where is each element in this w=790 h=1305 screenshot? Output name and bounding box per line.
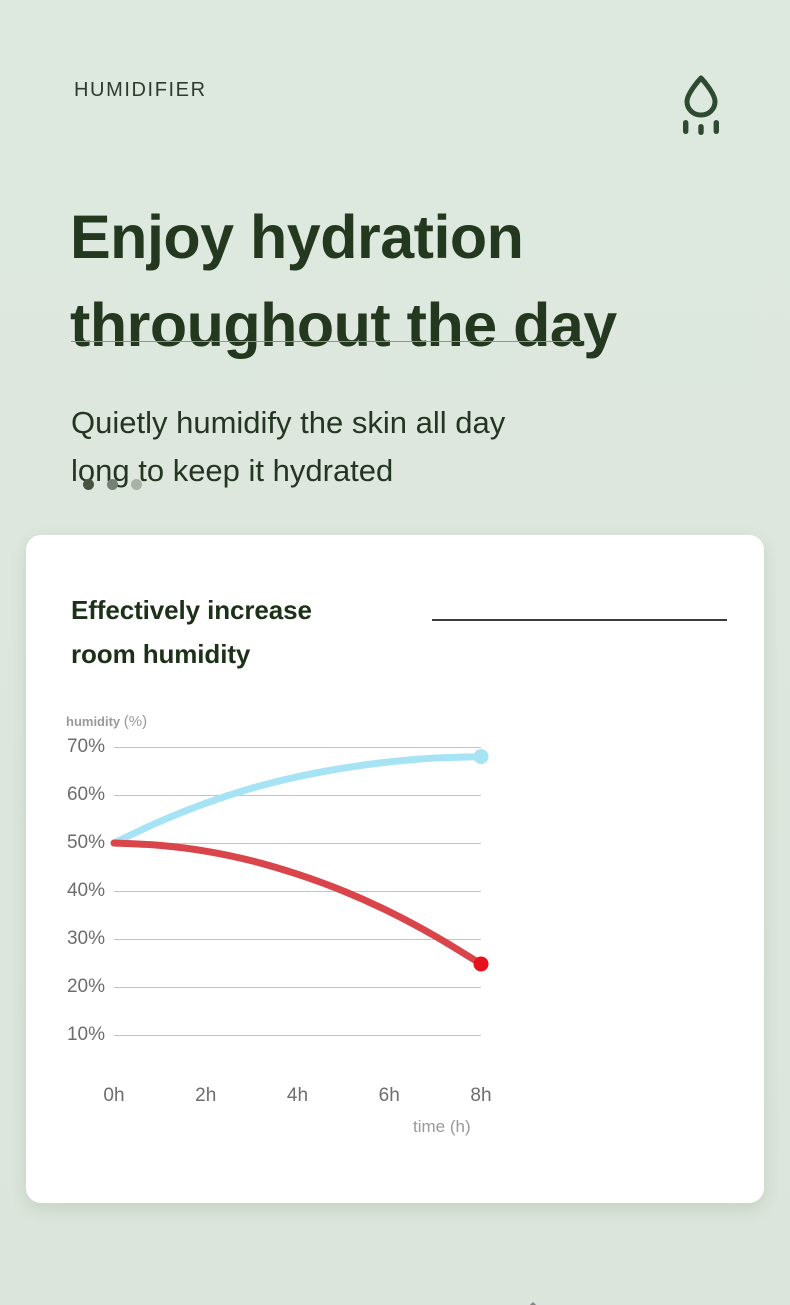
humidity-line-chart: humidity (%) 70%60%50%40%30%20%10% 0h2h4…: [38, 713, 488, 1153]
x-tick-label: 6h: [379, 1085, 400, 1107]
subtitle-line-1: Quietly humidify the skin all day: [71, 405, 505, 440]
card-divider: [432, 619, 727, 621]
humidity-chart-card: Effectively increase room humidity humid…: [26, 535, 764, 1203]
mist-droplet-icon: [672, 73, 730, 135]
hero-section: HUMIDIFIER Enjoy hydration throughout th…: [0, 0, 790, 535]
x-tick-label: 2h: [195, 1085, 216, 1107]
headline-line-2: throughout the day: [70, 281, 750, 369]
series-line-dry: [114, 843, 481, 964]
card-title: Effectively increase room humidity: [71, 588, 312, 676]
legend-text-moist: Moist space humidifier 8 hours of room h…: [584, 1293, 753, 1305]
x-tick-label: 8h: [470, 1085, 491, 1107]
x-axis-ticks: 0h2h4h6h8h: [38, 1085, 488, 1111]
series-line-moist: [114, 757, 481, 843]
promo-page: HUMIDIFIER Enjoy hydration throughout th…: [0, 0, 790, 1305]
house-moist-icon: [492, 1293, 574, 1305]
legend-title-moist: Moist space: [584, 1301, 753, 1305]
x-tick-label: 4h: [287, 1085, 308, 1107]
card-title-line-1: Effectively increase: [71, 595, 312, 625]
legend-item-moist-space: Moist space humidifier 8 hours of room h…: [492, 1293, 753, 1305]
x-axis-label: time (h): [413, 1117, 471, 1137]
chart-plot-area: 70%60%50%40%30%20%10%: [38, 747, 488, 1065]
series-endpoint-dry: [474, 956, 489, 971]
y-axis-label-text: humidity (%): [66, 714, 147, 729]
carousel-dot-2[interactable]: [107, 479, 118, 490]
headline-line-1: Enjoy hydration: [70, 203, 523, 271]
carousel-dot-1[interactable]: [83, 479, 94, 490]
page-title: Enjoy hydration throughout the day: [70, 193, 750, 369]
y-axis-label: humidity (%): [66, 713, 147, 730]
carousel-dots[interactable]: [83, 479, 142, 490]
card-title-line-2: room humidity: [71, 632, 312, 676]
chart-curves: [38, 747, 488, 1065]
carousel-dot-3[interactable]: [131, 479, 142, 490]
eyebrow-label: HUMIDIFIER: [74, 79, 207, 102]
x-tick-label: 0h: [103, 1085, 124, 1107]
hero-subtitle: Quietly humidify the skin all day long t…: [71, 399, 671, 495]
subtitle-line-2: long to keep it hydrated: [71, 447, 671, 495]
hero-divider: [71, 341, 581, 342]
series-endpoint-moist: [474, 749, 489, 764]
